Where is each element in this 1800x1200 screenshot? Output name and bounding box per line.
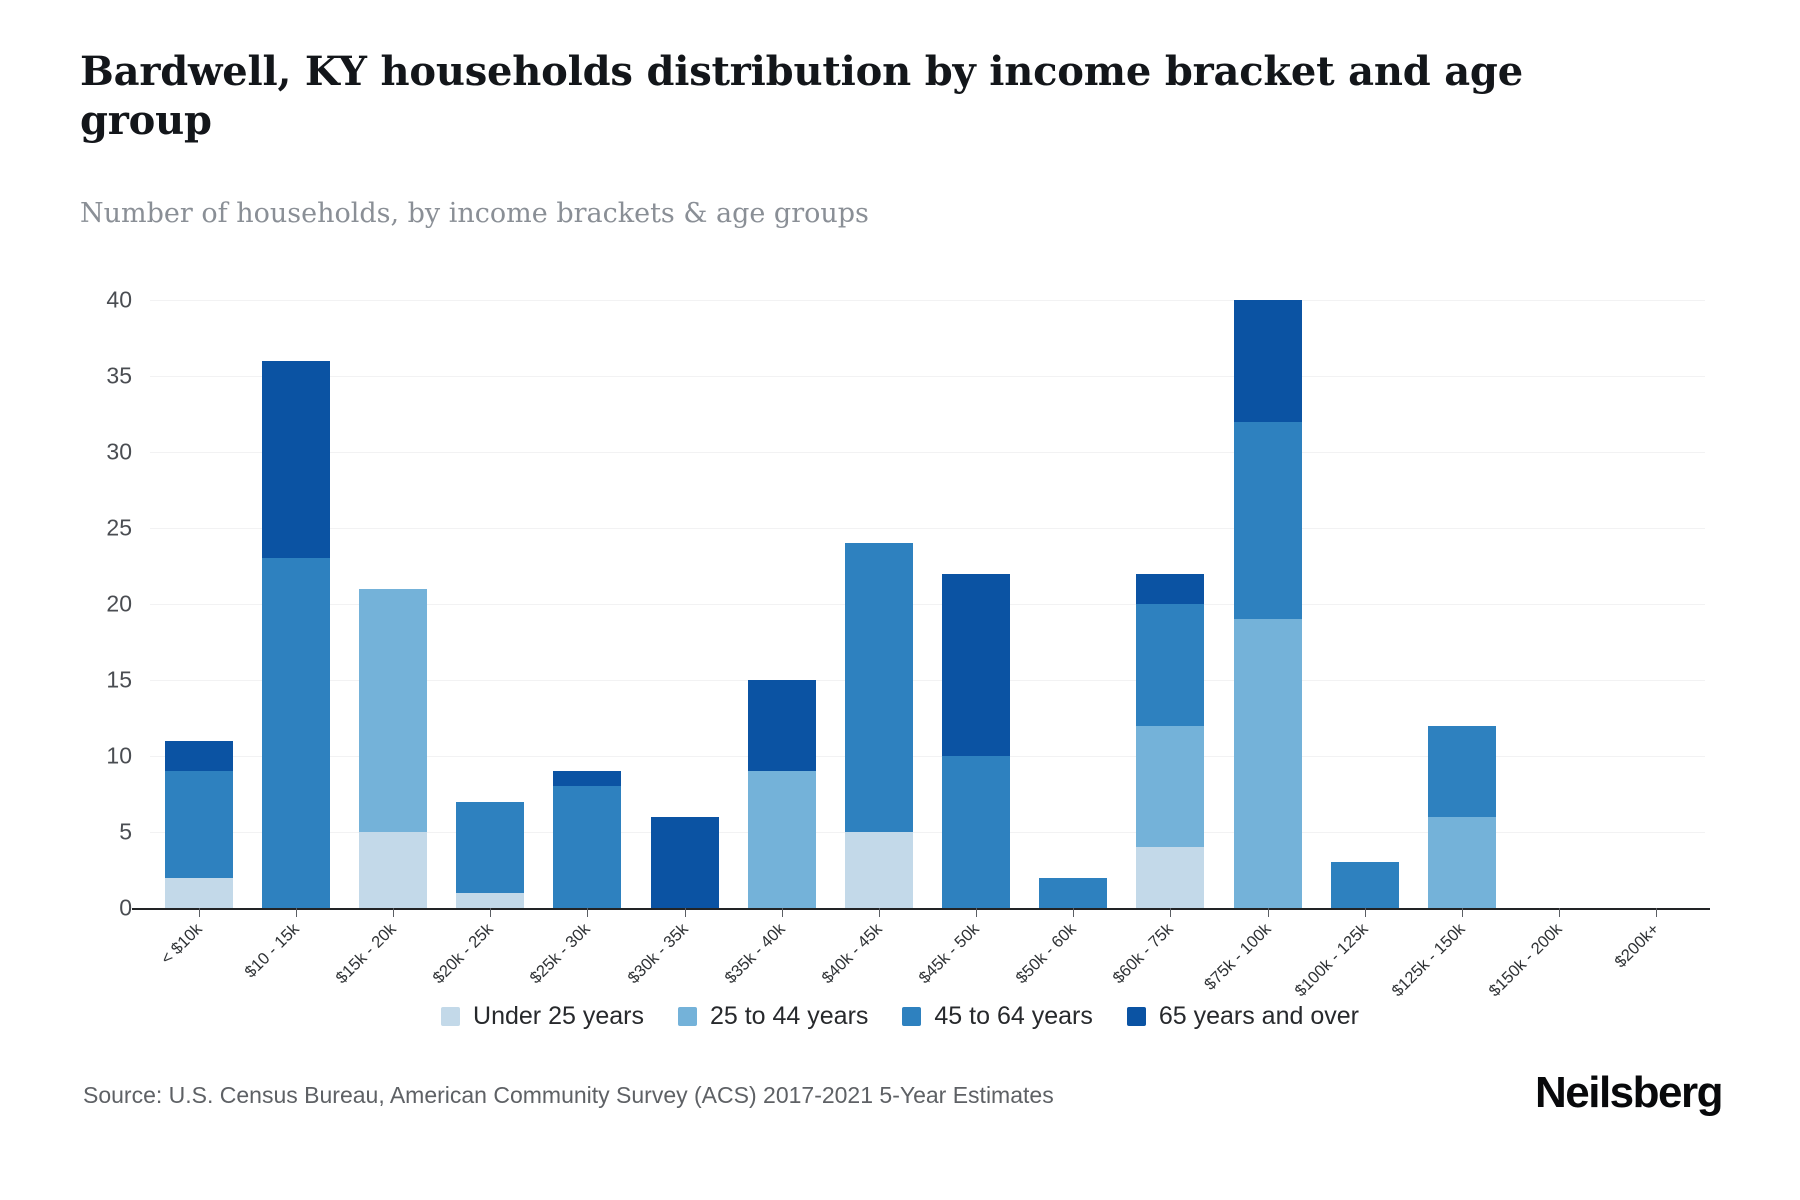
bar-stack[interactable]	[651, 300, 719, 908]
bar-segment[interactable]	[1331, 862, 1399, 908]
bar-segment[interactable]	[165, 878, 233, 908]
x-axis-tick-label: $50k - 60k	[1013, 920, 1081, 988]
bar-segment[interactable]	[165, 771, 233, 877]
x-axis-tick-mark	[685, 908, 686, 917]
bar-stack[interactable]	[262, 300, 330, 908]
y-axis-tick-label: 30	[106, 439, 132, 466]
legend-item-label: Under 25 years	[473, 1002, 644, 1031]
x-axis-tick-label: $200k+	[1612, 920, 1664, 972]
bar-segment[interactable]	[1136, 847, 1204, 908]
x-axis-tick-label: $15k - 20k	[332, 920, 400, 988]
x-axis-tick-mark	[1462, 908, 1463, 917]
legend-item[interactable]: 25 to 44 years	[678, 1002, 868, 1031]
bar-segment[interactable]	[845, 543, 913, 832]
y-axis-tick-label: 20	[106, 591, 132, 618]
legend-item-label: 45 to 64 years	[934, 1002, 1092, 1031]
x-axis-tick-mark	[296, 908, 297, 917]
x-axis-tick-mark	[1559, 908, 1560, 917]
bar-segment[interactable]	[651, 817, 719, 908]
legend-swatch-icon	[678, 1007, 697, 1026]
x-axis-line	[132, 908, 1710, 910]
x-axis-tick-label: $125k - 150k	[1389, 920, 1470, 1001]
x-axis-tick-mark	[879, 908, 880, 917]
x-axis-tick-label: $35k - 40k	[721, 920, 789, 988]
bar-segment[interactable]	[553, 786, 621, 908]
legend-item[interactable]: Under 25 years	[441, 1002, 644, 1031]
bar-segment[interactable]	[1234, 619, 1302, 908]
bar-stack[interactable]	[359, 300, 427, 908]
bar-stack[interactable]	[553, 300, 621, 908]
bar-segment[interactable]	[942, 574, 1010, 756]
bar-stack[interactable]	[456, 300, 524, 908]
bar-stack[interactable]	[165, 300, 233, 908]
bar-segment[interactable]	[748, 680, 816, 771]
bar-segment[interactable]	[359, 832, 427, 908]
x-axis-tick-mark	[490, 908, 491, 917]
bar-segment[interactable]	[262, 361, 330, 559]
bar-segment[interactable]	[262, 558, 330, 908]
legend-swatch-icon	[902, 1007, 921, 1026]
x-axis-tick-mark	[587, 908, 588, 917]
x-axis-tick-mark	[1170, 908, 1171, 917]
y-axis-tick-label: 15	[106, 667, 132, 694]
bar-segment[interactable]	[1428, 817, 1496, 908]
y-axis-tick-label: 0	[119, 895, 132, 922]
bar-segment[interactable]	[1234, 300, 1302, 422]
x-axis-tick-label: $150k - 200k	[1486, 920, 1567, 1001]
bar-segment[interactable]	[1136, 726, 1204, 848]
x-axis-tick-mark	[1656, 908, 1657, 917]
bar-stack[interactable]	[1428, 300, 1496, 908]
chart-legend: Under 25 years25 to 44 years45 to 64 yea…	[0, 1002, 1800, 1031]
bar-stack[interactable]	[1136, 300, 1204, 908]
page-title: Bardwell, KY households distribution by …	[80, 48, 1600, 146]
bar-stack[interactable]	[1525, 300, 1593, 908]
x-axis-tick-mark	[393, 908, 394, 917]
x-axis-tick-label: $20k - 25k	[430, 920, 498, 988]
x-axis-tick-label: $100k - 125k	[1291, 920, 1372, 1001]
legend-item-label: 25 to 44 years	[710, 1002, 868, 1031]
source-note: Source: U.S. Census Bureau, American Com…	[83, 1082, 1054, 1109]
bar-segment[interactable]	[1234, 422, 1302, 620]
bar-stack[interactable]	[1622, 300, 1690, 908]
bar-segment[interactable]	[1039, 878, 1107, 908]
bar-stack[interactable]	[1234, 300, 1302, 908]
x-axis-tick-label: $75k - 100k	[1201, 920, 1275, 994]
brand-logo: Neilsberg	[1535, 1068, 1722, 1118]
legend-swatch-icon	[1127, 1007, 1146, 1026]
x-axis-tick-label: $40k - 45k	[818, 920, 886, 988]
x-axis-tick-label: $10 - 15k	[241, 920, 303, 982]
bar-segment[interactable]	[456, 893, 524, 908]
bar-segment[interactable]	[165, 741, 233, 771]
x-axis-tick-mark	[199, 908, 200, 917]
legend-item-label: 65 years and over	[1159, 1002, 1359, 1031]
legend-item[interactable]: 45 to 64 years	[902, 1002, 1092, 1031]
x-axis-tick-mark	[1073, 908, 1074, 917]
legend-swatch-icon	[441, 1007, 460, 1026]
bar-stack[interactable]	[748, 300, 816, 908]
x-axis-tick-mark	[1268, 908, 1269, 917]
bar-segment[interactable]	[1136, 604, 1204, 726]
x-axis-tick-label: $45k - 50k	[916, 920, 984, 988]
chart-page: Bardwell, KY households distribution by …	[0, 0, 1800, 1200]
legend-item[interactable]: 65 years and over	[1127, 1002, 1359, 1031]
bar-segment[interactable]	[553, 771, 621, 786]
bar-stack[interactable]	[845, 300, 913, 908]
y-axis-tick-label: 10	[106, 743, 132, 770]
bar-segment[interactable]	[845, 832, 913, 908]
bar-stack[interactable]	[1039, 300, 1107, 908]
y-axis-tick-label: 35	[106, 363, 132, 390]
bar-stack[interactable]	[942, 300, 1010, 908]
x-axis-tick-label: < $10k	[157, 920, 206, 969]
bar-segment[interactable]	[1428, 726, 1496, 817]
bar-segment[interactable]	[1136, 574, 1204, 604]
y-axis-tick-label: 25	[106, 515, 132, 542]
plot-area: 0510152025303540< $10k$10 - 15k$15k - 20…	[150, 300, 1705, 908]
x-axis-tick-mark	[1365, 908, 1366, 917]
bar-segment[interactable]	[359, 589, 427, 832]
chart-subtitle: Number of households, by income brackets…	[80, 198, 1480, 230]
bar-segment[interactable]	[456, 802, 524, 893]
x-axis-tick-mark	[976, 908, 977, 917]
y-axis-tick-label: 40	[106, 287, 132, 314]
x-axis-tick-label: $60k - 75k	[1110, 920, 1178, 988]
x-axis-tick-label: $30k - 35k	[624, 920, 692, 988]
x-axis-tick-label: $25k - 30k	[527, 920, 595, 988]
y-axis-tick-label: 5	[119, 819, 132, 846]
bar-segment[interactable]	[748, 771, 816, 908]
bar-segment[interactable]	[942, 756, 1010, 908]
bar-stack[interactable]	[1331, 300, 1399, 908]
x-axis-tick-mark	[782, 908, 783, 917]
